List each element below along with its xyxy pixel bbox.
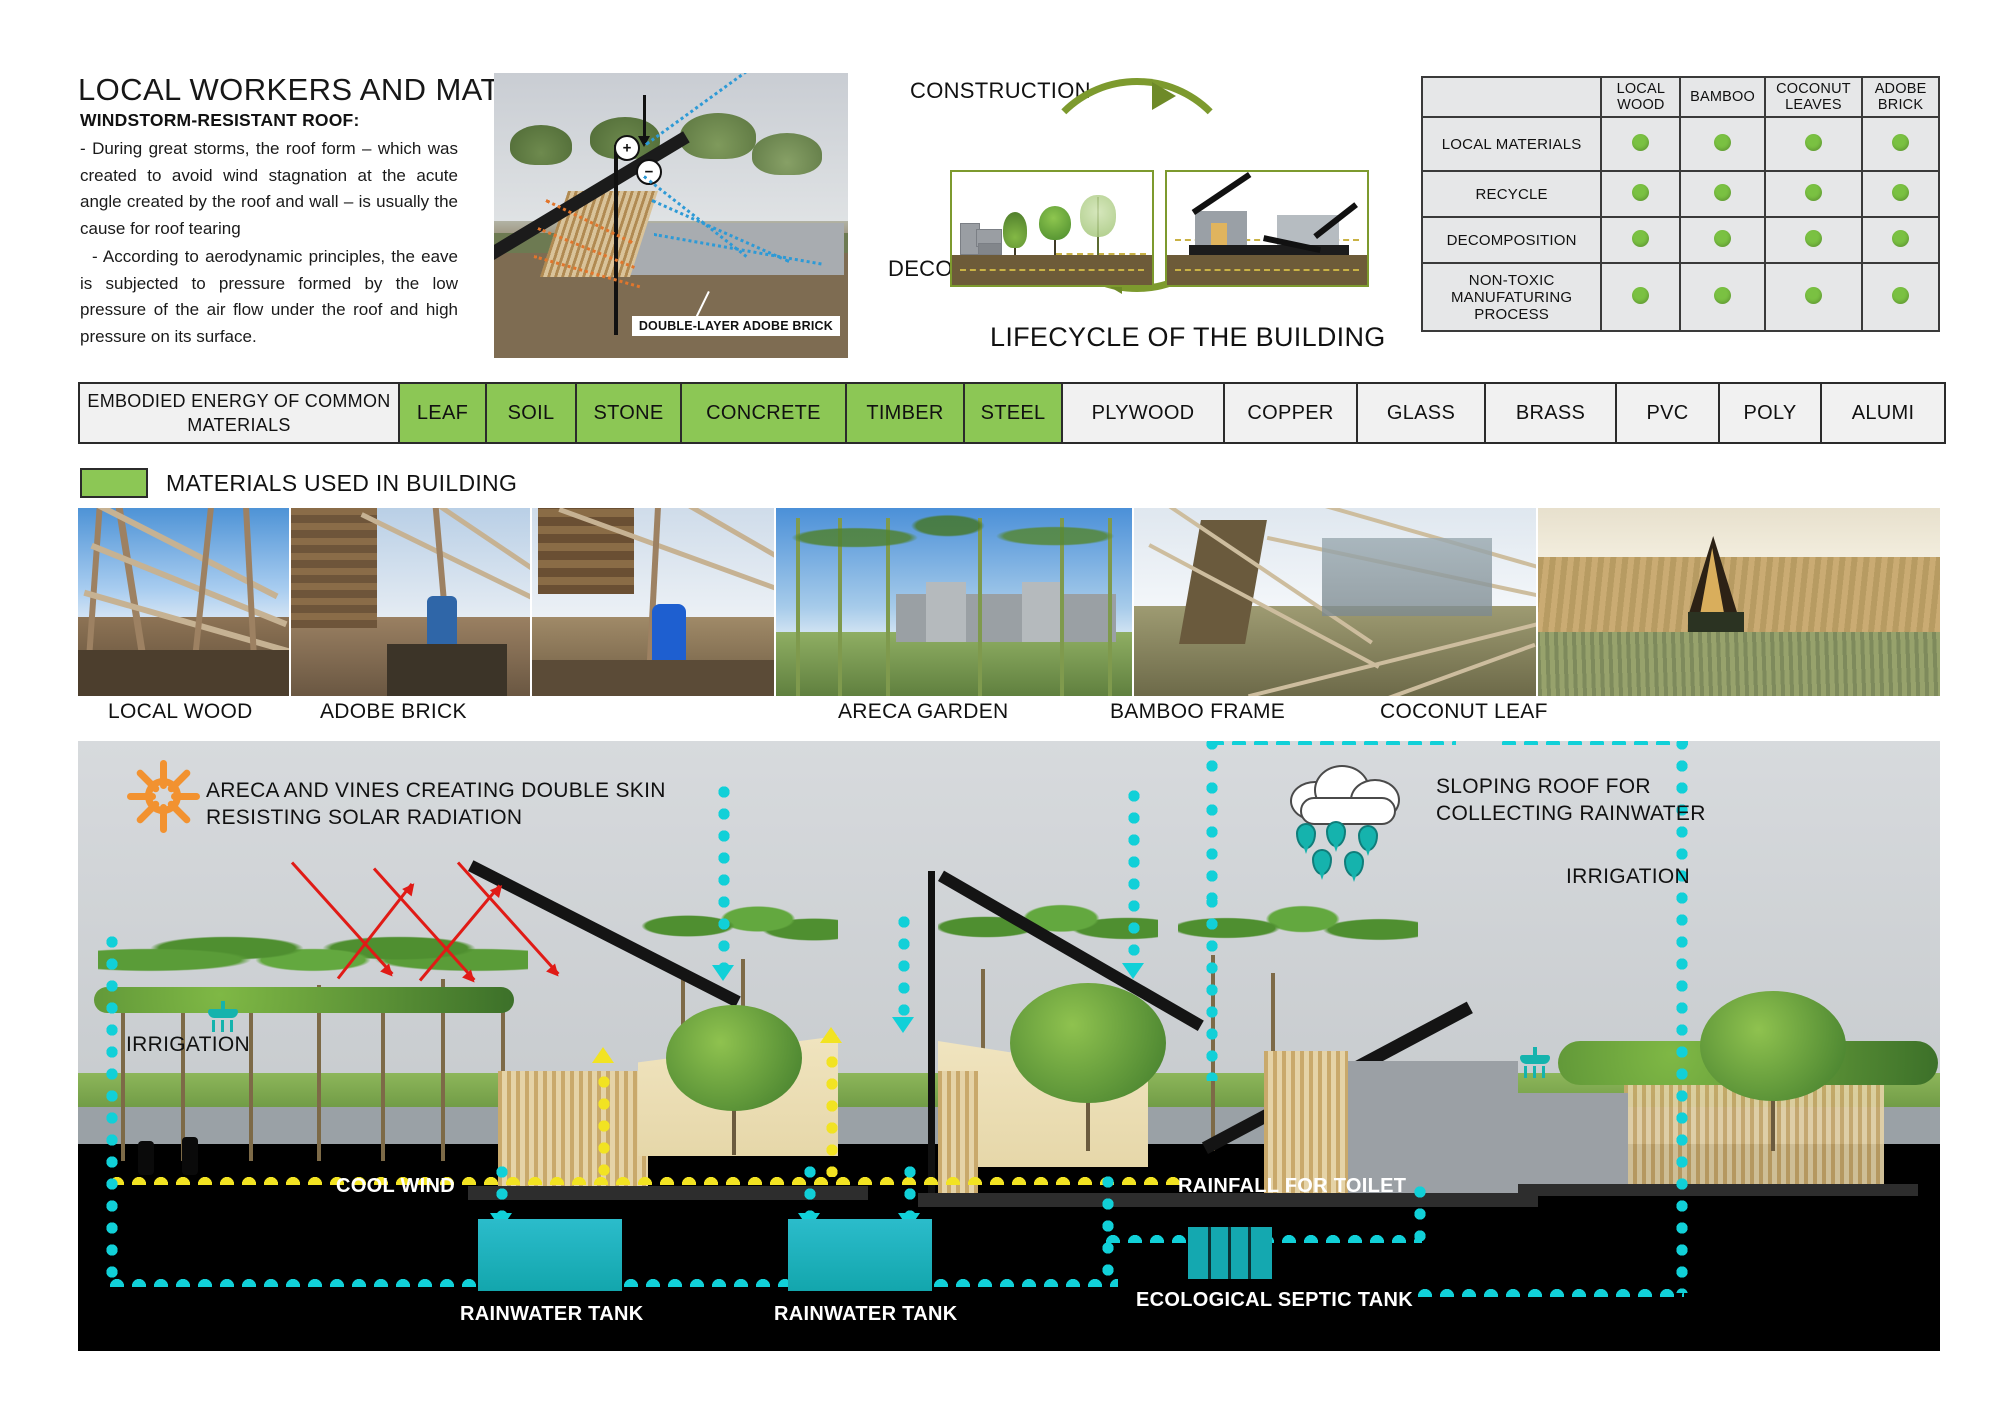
material-cell-glass: GLASS xyxy=(1356,382,1486,444)
row-label-non-toxic: NON-TOXIC MANUFATURING PROCESS xyxy=(1422,263,1601,331)
material-cell-pvc: PVC xyxy=(1615,382,1720,444)
sky-background xyxy=(78,508,289,625)
row-label-recycle: RECYCLE xyxy=(1422,171,1601,217)
central-mast xyxy=(928,871,935,1201)
label-rainfall-for-toilet: RAINFALL FOR TOILET xyxy=(1178,1173,1406,1200)
label-irrigation-right: IRRIGATION xyxy=(1566,863,1690,890)
material-cell-copper: COPPER xyxy=(1223,382,1358,444)
material-cell-leaf: LEAF xyxy=(398,382,487,444)
water-riser xyxy=(1102,1171,1114,1281)
background-building xyxy=(1322,538,1492,616)
matrix-cell xyxy=(1862,171,1939,217)
foreground-mass xyxy=(532,660,775,696)
photo-strip-captions: LOCAL WOOD ADOBE BRICK ARECA GARDEN BAMB… xyxy=(78,700,1940,736)
shower-jet xyxy=(1542,1066,1545,1078)
embodied-energy-bar: EMBODIED ENERGY OF COMMON MATERIALS LEAF… xyxy=(78,382,1944,444)
shower-jet xyxy=(1524,1066,1527,1078)
rainwater-tank-left xyxy=(478,1219,622,1291)
photo-bamboo-frame xyxy=(1134,508,1538,696)
rainwater-tank-mid xyxy=(788,1219,932,1291)
courtyard-tree xyxy=(664,1005,804,1155)
table-row: NON-TOXIC MANUFATURING PROCESS xyxy=(1422,263,1939,331)
matrix-cell xyxy=(1680,217,1764,263)
cloud-base xyxy=(1300,797,1396,825)
check-dot-icon xyxy=(1632,230,1649,247)
shower-icon-right xyxy=(1520,1055,1550,1081)
person-figure xyxy=(182,1137,198,1175)
courtyard-tree xyxy=(1008,981,1168,1151)
sun-icon xyxy=(132,765,194,827)
positive-pressure-icon: + xyxy=(614,135,640,161)
label-sloping-roof-text: SLOPING ROOF FOR COLLECTING RAINWATER xyxy=(1436,775,1706,825)
presentation-board: LOCAL WORKERS AND MATERIAL WINDSTORM-RES… xyxy=(0,0,2000,1415)
water-main-left xyxy=(106,1275,506,1287)
irrigation-loop-left xyxy=(1206,741,1218,899)
lifecycle-title: LIFECYCLE OF THE BUILDING xyxy=(990,322,1386,353)
column-header-bamboo: BAMBOO xyxy=(1680,77,1764,117)
rainwater-arrow xyxy=(1122,963,1144,979)
irrigation-loop-top xyxy=(1498,741,1688,745)
palm-foliage-icon xyxy=(752,133,822,175)
broadleaf-tree-icon xyxy=(1038,203,1072,255)
matrix-cell xyxy=(1680,171,1764,217)
tree-crown xyxy=(1003,212,1027,248)
matrix-cell xyxy=(1765,217,1862,263)
matrix-cell xyxy=(1601,117,1680,171)
palm-trunk xyxy=(249,1003,253,1161)
areca-palm xyxy=(246,1003,256,1161)
palm-trunk xyxy=(381,999,385,1161)
roof-slope-left xyxy=(1192,172,1252,215)
palm-trunk xyxy=(121,1011,125,1161)
matrix-cell xyxy=(1765,171,1862,217)
material-cell-timber: TIMBER xyxy=(845,382,965,444)
rainwater-arrow xyxy=(892,1017,914,1033)
matrix-cell xyxy=(1601,171,1680,217)
legend-label: MATERIALS USED IN BUILDING xyxy=(166,470,517,497)
subsection-heading: WINDSTORM-RESISTANT ROOF: xyxy=(80,110,359,131)
material-cell-poly: POLY xyxy=(1718,382,1822,444)
irrigation-downpipe-left xyxy=(106,931,118,1281)
column-header-adobe-brick: ADOBE BRICK xyxy=(1862,77,1939,117)
matrix-cell xyxy=(1862,117,1939,171)
shower-jet xyxy=(1533,1066,1536,1078)
septic-riser xyxy=(1414,1181,1426,1241)
caption-local-wood: LOCAL WOOD xyxy=(108,700,253,724)
matrix-cell xyxy=(1601,217,1680,263)
photo-areca-garden xyxy=(776,508,1134,696)
cool-wind-path xyxy=(106,1173,1186,1185)
septic-divider xyxy=(1208,1227,1211,1279)
check-dot-icon xyxy=(1632,184,1649,201)
palm-trunk xyxy=(181,991,185,1161)
warm-air-riser xyxy=(598,1071,610,1177)
cycle-arrowhead-top xyxy=(1152,82,1176,110)
material-properties-table: LOCAL WOOD BAMBOO COCONUT LEAVES ADOBE B… xyxy=(1421,76,1940,332)
check-dot-icon xyxy=(1805,184,1822,201)
material-cell-brass: BRASS xyxy=(1484,382,1617,444)
plus-glyph: + xyxy=(623,141,632,156)
areca-palm xyxy=(178,991,188,1161)
palm-foliage-icon xyxy=(680,113,756,159)
check-dot-icon xyxy=(1892,134,1909,151)
label-solar-shading-text: ARECA AND VINES CREATING DOUBLE SKIN RES… xyxy=(206,779,666,829)
table-row: LOCAL MATERIALS xyxy=(1422,117,1939,171)
row-label-local-materials: LOCAL MATERIALS xyxy=(1422,117,1601,171)
tree-crown xyxy=(1080,195,1116,237)
rain-cloud-icon xyxy=(1290,763,1400,821)
brick-stack xyxy=(387,644,507,696)
label-rainwater-tank-left: RAINWATER TANK xyxy=(460,1301,643,1328)
palm-fronds xyxy=(776,508,1134,582)
photo-bamboo-work xyxy=(532,508,777,696)
ecological-septic-tank xyxy=(1188,1227,1272,1279)
label-rainwater-tank-mid: RAINWATER TANK xyxy=(774,1301,957,1328)
conifer-tree-icon xyxy=(1002,211,1028,255)
label-irrigation-left: IRRIGATION xyxy=(126,1031,250,1058)
sun-ray xyxy=(171,793,200,800)
pavilion-slab xyxy=(1518,1184,1918,1196)
check-dot-icon xyxy=(1805,134,1822,151)
machinery-shape xyxy=(978,243,1002,255)
windstorm-render-photo: + − DOUBLE-LAYER ADOBE BRICK xyxy=(494,73,848,358)
shower-head xyxy=(208,1009,238,1018)
check-dot-icon xyxy=(1892,287,1909,304)
tree-crown xyxy=(1700,991,1846,1101)
palm-canopy-mid xyxy=(938,891,1158,963)
material-cell-stone: STONE xyxy=(575,382,682,444)
shower-head xyxy=(1520,1055,1550,1064)
row-label-decomposition: DECOMPOSITION xyxy=(1422,217,1601,263)
underground-dashed-line xyxy=(1175,269,1359,271)
rainwater-downpipe xyxy=(1128,785,1140,965)
sun-ray xyxy=(160,804,167,833)
palm-foliage-icon xyxy=(510,125,572,165)
check-dot-icon xyxy=(1632,287,1649,304)
check-dot-icon xyxy=(1805,230,1822,247)
areca-palm xyxy=(378,999,388,1161)
embodied-energy-heading: EMBODIED ENERGY OF COMMON MATERIALS xyxy=(78,382,400,444)
pavilion-tree xyxy=(1698,991,1848,1151)
septic-divider xyxy=(1248,1227,1251,1279)
label-solar-shading: ARECA AND VINES CREATING DOUBLE SKIN RES… xyxy=(206,777,726,831)
tank-inlet-left xyxy=(496,1161,508,1217)
material-cell-plywood: PLYWOOD xyxy=(1061,382,1225,444)
tree-crown xyxy=(1039,206,1071,240)
lifecycle-label-construction: CONSTRUCTION xyxy=(910,78,1091,104)
check-dot-icon xyxy=(1714,134,1731,151)
caption-bamboo-frame: BAMBOO FRAME xyxy=(1110,700,1285,724)
caption-coconut-leaf: COCONUT LEAF xyxy=(1380,700,1548,724)
tree-crown xyxy=(1010,983,1166,1103)
rainwater-arrow xyxy=(712,965,734,981)
photo-adobe-brick xyxy=(291,508,532,696)
material-cell-concrete: CONCRETE xyxy=(680,382,847,444)
check-dot-icon xyxy=(1714,287,1731,304)
building-structure xyxy=(926,582,966,642)
sun-ray xyxy=(127,793,156,800)
matrix-cell xyxy=(1765,117,1862,171)
matrix-cell xyxy=(1862,217,1939,263)
matrix-cell xyxy=(1862,263,1939,331)
label-cool-wind: COOL WIND xyxy=(336,1173,455,1200)
foreground-mass xyxy=(78,650,289,696)
tree-crown xyxy=(666,1005,802,1111)
lifecycle-panel-building xyxy=(1165,170,1369,287)
table-header-row: LOCAL WOOD BAMBOO COCONUT LEAVES ADOBE B… xyxy=(1422,77,1939,117)
lifecycle-panel-site xyxy=(950,170,1154,287)
water-main-right xyxy=(908,1275,1118,1287)
underground-dashed-line xyxy=(960,269,1144,271)
tank-inlet-mid xyxy=(804,1161,816,1217)
vine-hedge-left xyxy=(94,987,514,1013)
caption-areca-garden: ARECA GARDEN xyxy=(838,700,1008,724)
body-text: - During great storms, the roof form – w… xyxy=(80,136,458,352)
check-dot-icon xyxy=(1714,230,1731,247)
grass-foreground xyxy=(1538,632,1940,696)
tank-inlet-mid2 xyxy=(904,1161,916,1217)
warm-air-arrow xyxy=(820,1027,842,1043)
photo-coconut-leaf xyxy=(1538,508,1940,696)
table-row: RECYCLE xyxy=(1422,171,1939,217)
matrix-cell xyxy=(1765,263,1862,331)
areca-tree-icon xyxy=(1080,197,1116,255)
adobe-wall xyxy=(291,508,377,628)
palm-canopy-mid xyxy=(638,891,838,961)
column-header-local-wood: LOCAL WOOD xyxy=(1601,77,1680,117)
matrix-cell xyxy=(1680,263,1764,331)
column-header-coconut-leaves: COCONUT LEAVES xyxy=(1765,77,1862,117)
body-paragraph-2: - According to aerodynamic principles, t… xyxy=(80,244,458,350)
check-dot-icon xyxy=(1892,184,1909,201)
check-dot-icon xyxy=(1892,230,1909,247)
rainwater-downpipe xyxy=(898,911,910,1021)
building-opening xyxy=(1211,223,1227,245)
material-cell-steel: STEEL xyxy=(963,382,1063,444)
photo-caption: DOUBLE-LAYER ADOBE BRICK xyxy=(632,316,840,336)
label-ecological-septic-tank: ECOLOGICAL SEPTIC TANK xyxy=(1136,1287,1413,1314)
embodied-energy-legend: MATERIALS USED IN BUILDING xyxy=(80,468,517,498)
lifecycle-diagram: CONSTRUCTION DECONSTRUCTION xyxy=(880,60,1380,310)
person-figure xyxy=(138,1141,154,1175)
body-paragraph-1: - During great storms, the roof form – w… xyxy=(80,136,458,242)
environmental-section-diagram: ARECA AND VINES CREATING DOUBLE SKIN RES… xyxy=(78,741,1940,1351)
vertical-post xyxy=(614,145,618,335)
label-sloping-roof: SLOPING ROOF FOR COLLECTING RAINWATER xyxy=(1436,773,1856,827)
septic-divider xyxy=(1228,1227,1231,1279)
building-left-wood-wall xyxy=(498,1071,648,1189)
material-cell-alumi: ALUMI xyxy=(1820,382,1946,444)
photo-local-wood xyxy=(78,508,291,696)
matrix-cell xyxy=(1680,117,1764,171)
downward-pressure-arrow xyxy=(643,95,646,137)
irrigation-loop-top xyxy=(1206,741,1456,745)
legend-color-swatch xyxy=(80,468,148,498)
check-dot-icon xyxy=(1805,287,1822,304)
check-dot-icon xyxy=(1714,184,1731,201)
matrix-cell xyxy=(1601,263,1680,331)
warm-air-arrow xyxy=(592,1047,614,1063)
project-photo-strip xyxy=(78,508,1940,696)
sun-ray xyxy=(160,760,167,789)
caption-adobe-brick: ADOBE BRICK xyxy=(320,700,467,724)
check-dot-icon xyxy=(1632,134,1649,151)
matrix-corner-cell xyxy=(1422,77,1601,117)
irrigation-drop-left xyxy=(1206,891,1218,1081)
irrigation-loop-bottom xyxy=(1414,1285,1684,1297)
table-row: DECOMPOSITION xyxy=(1422,217,1939,263)
tree-trunk xyxy=(1086,1095,1090,1151)
material-cell-soil: SOIL xyxy=(485,382,577,444)
toilet-block-wall xyxy=(1518,1093,1628,1193)
building-base-slab xyxy=(1189,245,1349,255)
matrix-table: LOCAL WOOD BAMBOO COCONUT LEAVES ADOBE B… xyxy=(1421,76,1940,332)
building-structure xyxy=(1022,582,1062,642)
warm-air-riser xyxy=(826,1051,838,1177)
